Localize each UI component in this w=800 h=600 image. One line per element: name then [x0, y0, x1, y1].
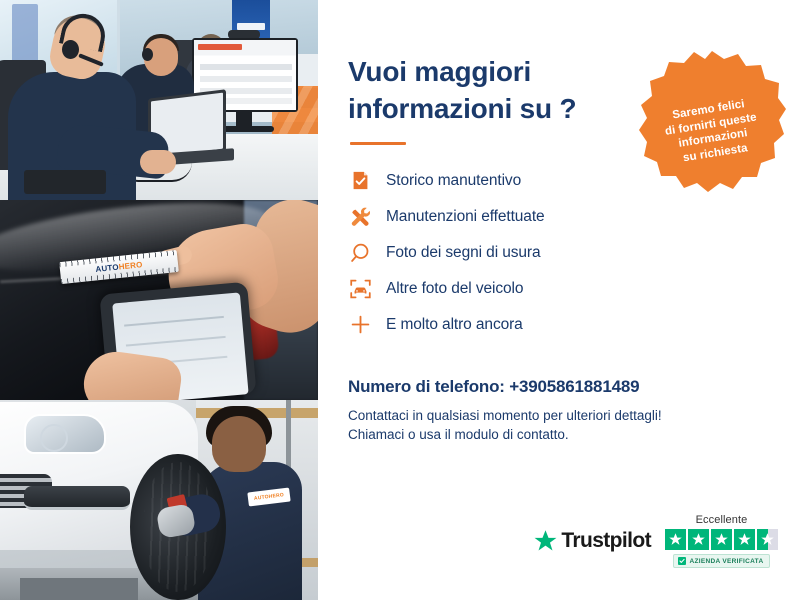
tools-cross-icon — [348, 205, 372, 229]
trustpilot-star-icon — [533, 529, 558, 554]
car-headlight — [24, 414, 106, 454]
contact-banner: AUTOHERO AUTOHERO — [0, 0, 800, 600]
feature-label: E molto altro ancora — [386, 316, 523, 334]
feature-item-molto-altro: E molto altro ancora — [348, 307, 772, 343]
feature-label: Foto dei segni di usura — [386, 244, 541, 262]
star-filled — [688, 529, 709, 550]
agent-two-headset — [142, 48, 153, 61]
support-badge: Saremo felici di fornirti queste informa… — [638, 48, 786, 196]
star-filled — [734, 529, 755, 550]
feature-item-foto-segni-usura: Foto dei segni di usura — [348, 235, 772, 271]
phone-label: Numero di telefono: — [348, 377, 505, 396]
lift-cabinet — [20, 578, 138, 600]
star-half — [757, 529, 778, 550]
feature-label: Manutenzioni effettuate — [386, 208, 545, 226]
desk-tablet — [24, 170, 106, 194]
star-rating — [665, 529, 778, 550]
contact-note: Contattaci in qualsiasi momento per ulte… — [348, 406, 772, 445]
star-filled — [711, 529, 732, 550]
check-icon — [678, 557, 686, 565]
feature-item-altre-foto-veicolo: Altre foto del veicolo — [348, 271, 772, 307]
autohero-logo-hero: HERO — [118, 260, 143, 271]
rating-label: Eccellente — [696, 514, 748, 526]
phone-number[interactable]: +3905861881489 — [509, 377, 639, 396]
document-check-icon — [348, 169, 372, 193]
verified-badge: AZIENDA VERIFICATA — [673, 554, 771, 568]
page-title: Vuoi maggiori informazioni su ? — [348, 54, 628, 128]
contact-note-line-2: Chiamaci o usa il modulo di contatto. — [348, 427, 569, 442]
car-scan-icon — [348, 277, 372, 301]
contact-note-line-1: Contattaci in qualsiasi momento per ulte… — [348, 408, 662, 423]
feature-label: Storico manutentivo — [386, 172, 521, 190]
headline-line-1: Vuoi maggiori — [348, 56, 531, 87]
verified-label: AZIENDA VERIFICATA — [690, 558, 764, 565]
star-filled — [665, 529, 686, 550]
phone-line: Numero di telefono: +3905861881489 — [348, 377, 772, 397]
photo-vehicle-inspection-ruler: AUTOHERO — [0, 200, 318, 400]
photo-technician-wheel-check: AUTOHERO — [0, 400, 318, 600]
agent-one-headset-cup — [62, 40, 79, 59]
content-panel: Vuoi maggiori informazioni su ? Saremo f… — [318, 0, 800, 600]
feature-label: Altre foto del veicolo — [386, 280, 523, 298]
plus-icon — [348, 313, 372, 337]
car-bumper-vent — [24, 486, 130, 510]
trustpilot-rating: Eccellente — [665, 514, 778, 568]
headline-line-2: informazioni su ? — [348, 93, 576, 124]
technician-head — [212, 416, 266, 472]
trustpilot-wordmark: Trustpilot — [561, 529, 651, 553]
agent-one-hand — [140, 150, 176, 174]
contact-block: Numero di telefono: +3905861881489 Conta… — [348, 377, 772, 445]
trustpilot-logo: Trustpilot — [533, 529, 651, 554]
photo-call-centre-agents — [0, 0, 318, 200]
title-divider — [350, 142, 406, 145]
trustpilot-widget[interactable]: Trustpilot Eccellente — [533, 514, 778, 568]
photo-column: AUTOHERO AUTOHERO — [0, 0, 318, 600]
headset-icon — [621, 48, 655, 78]
feature-item-manutenzioni-effettuate: Manutenzioni effettuate — [348, 199, 772, 235]
autohero-logo-auto: AUTO — [95, 263, 119, 274]
magnifier-icon — [348, 241, 372, 265]
